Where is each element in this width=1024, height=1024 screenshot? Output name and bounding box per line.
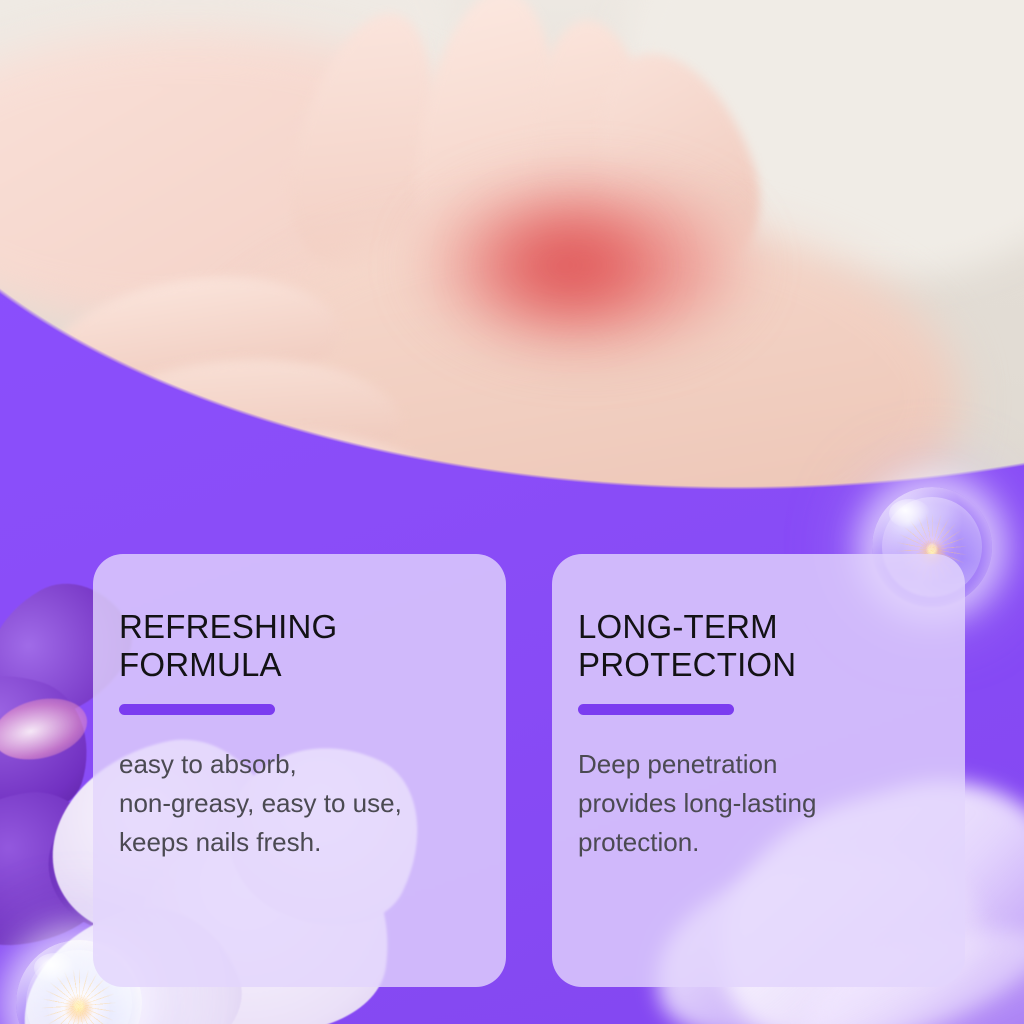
card-title: REFRESHING FORMULA bbox=[119, 608, 476, 684]
card-body: easy to absorb, non-greasy, easy to use,… bbox=[119, 745, 476, 862]
poster-canvas: REFRESHING FORMULA easy to absorb, non-g… bbox=[0, 0, 1024, 1024]
irritated-skin-patch bbox=[480, 210, 650, 320]
accent-divider bbox=[578, 704, 734, 715]
feature-cards: REFRESHING FORMULA easy to absorb, non-g… bbox=[93, 554, 965, 987]
card-refreshing-formula[interactable]: REFRESHING FORMULA easy to absorb, non-g… bbox=[93, 554, 506, 987]
hero-photo bbox=[0, 0, 1024, 600]
hero-photo-image bbox=[0, 0, 1024, 600]
card-long-term-protection[interactable]: LONG-TERM PROTECTION Deep penetration pr… bbox=[552, 554, 965, 987]
card-title: LONG-TERM PROTECTION bbox=[578, 608, 935, 684]
card-body: Deep penetration provides long-lasting p… bbox=[578, 745, 935, 862]
accent-divider bbox=[119, 704, 275, 715]
